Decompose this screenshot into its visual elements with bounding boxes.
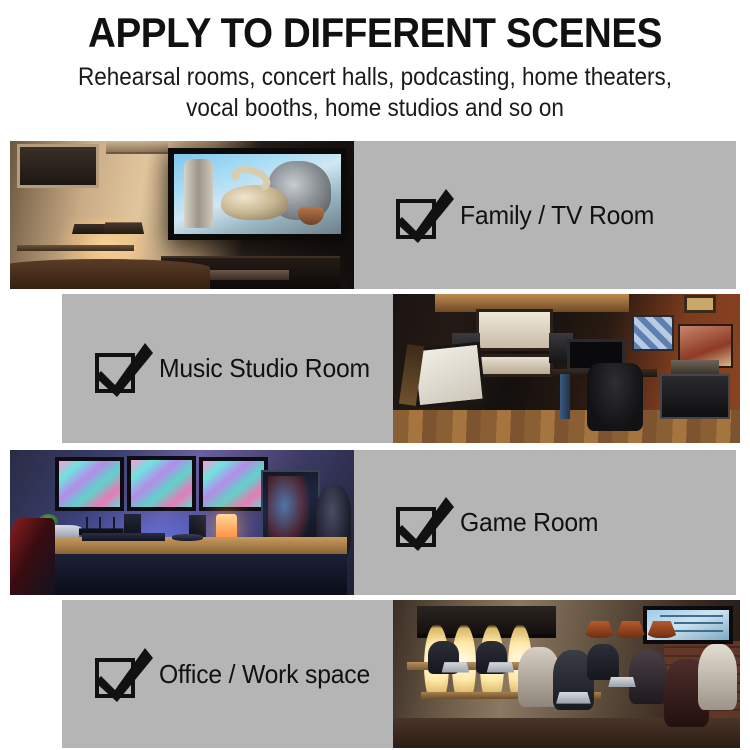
scene-label-office-work-space: Office / Work space — [159, 659, 370, 690]
scene-image-family-tv-room — [10, 141, 354, 289]
scene-label-music-studio-room: Music Studio Room — [159, 353, 370, 384]
scene-panel-office-work-space[interactable]: Office / Work space — [62, 600, 393, 748]
checked-checkbox-icon[interactable] — [396, 191, 444, 239]
scene-image-music-studio-room — [393, 294, 740, 443]
scene-image-game-room — [10, 450, 354, 595]
scene-row-office-work-space: Office / Work space — [62, 600, 740, 748]
scene-image-office-work-space — [393, 600, 740, 748]
page-subtitle: Rehearsal rooms, concert halls, podcasti… — [38, 62, 713, 124]
checked-checkbox-icon[interactable] — [95, 345, 143, 393]
scene-label-family-tv-room: Family / TV Room — [460, 200, 654, 231]
scene-panel-family-tv-room[interactable]: Family / TV Room — [354, 141, 736, 289]
page-title: APPLY TO DIFFERENT SCENES — [30, 10, 720, 56]
checked-checkbox-icon[interactable] — [396, 499, 444, 547]
scene-row-family-tv-room: Family / TV Room — [10, 141, 736, 289]
subtitle-line-1: Rehearsal rooms, concert halls, podcasti… — [38, 62, 713, 93]
scene-panel-music-studio-room[interactable]: Music Studio Room — [62, 294, 393, 443]
scene-row-music-studio-room: Music Studio Room — [62, 294, 740, 443]
header: APPLY TO DIFFERENT SCENES Rehearsal room… — [0, 0, 750, 124]
infographic-page: APPLY TO DIFFERENT SCENES Rehearsal room… — [0, 0, 750, 750]
subtitle-line-2: vocal booths, home studios and so on — [38, 93, 713, 124]
scene-panel-game-room[interactable]: Game Room — [354, 450, 736, 595]
checked-checkbox-icon[interactable] — [95, 650, 143, 698]
scene-row-game-room: Game Room — [10, 450, 736, 595]
scene-label-game-room: Game Room — [460, 507, 598, 538]
